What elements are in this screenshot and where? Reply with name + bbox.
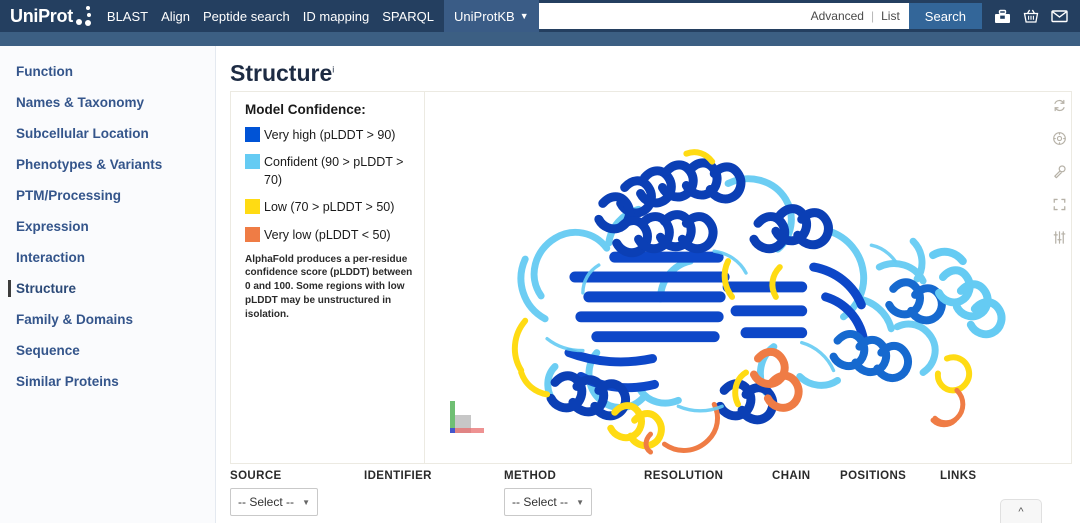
chevron-up-icon: ^ [1018,506,1023,518]
search-options-separator: | [871,9,874,23]
settings-icon[interactable] [1052,230,1067,250]
top-header: UniProt BLAST Align Peptide search ID ma… [0,0,1080,32]
logo-dots-icon [75,5,95,27]
sidebar-item-names-taxonomy[interactable]: Names & Taxonomy [0,87,215,118]
sidebar-item-label: Function [16,64,73,79]
sidebar-item-structure[interactable]: Structure [0,273,215,304]
main-content: Structurei Model Confidence: Very high (… [216,46,1080,523]
sidebar-item-label: Subcellular Location [16,126,149,141]
legend-swatch-very-high [245,127,260,142]
sidebar-item-label: Expression [16,219,89,234]
column-header-positions: POSITIONS [840,470,940,482]
sidebar-item-label: Similar Proteins [16,374,119,389]
search-input[interactable] [539,3,802,29]
sidebar-item-label: Phenotypes & Variants [16,157,162,172]
main-nav: BLAST Align Peptide search ID mapping SP… [107,0,434,32]
basket-icon[interactable] [1023,9,1039,24]
sidebar-item-label: Names & Taxonomy [16,95,144,110]
orientation-axes-widget [439,393,495,445]
legend-label-low: Low (70 > pLDDT > 50) [264,198,394,216]
legend-entry-very-low: Very low (pLDDT < 50) [245,226,414,244]
toolbox-icon[interactable] [994,9,1011,24]
sidebar-item-subcellular-location[interactable]: Subcellular Location [0,118,215,149]
page-title-text: Structure [230,60,332,86]
nav-item-align[interactable]: Align [161,9,190,24]
model-confidence-legend: Model Confidence: Very high (pLDDT > 90)… [231,92,425,463]
header-icon-group [982,0,1080,32]
screenshot-icon[interactable] [1052,164,1067,184]
sidebar-item-function[interactable]: Function [0,56,215,87]
chevron-down-icon: ▼ [520,11,529,21]
namespace-dropdown[interactable]: UniProtKB ▼ [444,0,539,32]
chevron-down-icon: ▼ [302,498,310,507]
method-filter-value: -- Select -- [512,495,568,509]
nav-item-sparql[interactable]: SPARQL [382,9,434,24]
sidebar-item-label: Family & Domains [16,312,133,327]
source-filter-cell: -- Select -- ▼ [230,488,364,516]
page-title: Structurei [216,46,1080,97]
structure-table: SOURCE IDENTIFIER METHOD RESOLUTION CHAI… [230,470,1072,516]
search-options: Advanced | List [802,3,909,29]
legend-entry-low: Low (70 > pLDDT > 50) [245,198,414,216]
nav-item-id-mapping[interactable]: ID mapping [303,9,369,24]
section-sidebar: Function Names & Taxonomy Subcellular Lo… [0,46,216,523]
namespace-label: UniProtKB [454,9,515,24]
logo-text: UniProt [10,6,73,27]
column-header-method: METHOD [504,470,644,482]
reset-view-icon[interactable] [1052,98,1067,118]
scroll-to-top-button[interactable]: ^ [1000,499,1042,523]
legend-swatch-confident [245,154,260,169]
chevron-down-icon: ▼ [576,498,584,507]
search-bar: Advanced | List [539,3,909,29]
sidebar-item-label: Structure [16,281,76,296]
sidebar-item-ptm-processing[interactable]: PTM/Processing [0,180,215,211]
sidebar-item-label: PTM/Processing [16,188,121,203]
table-filter-row: -- Select -- ▼ -- Select -- ▼ [230,488,1072,516]
sidebar-item-family-domains[interactable]: Family & Domains [0,304,215,335]
list-search-link[interactable]: List [881,9,900,23]
legend-label-confident: Confident (90 > pLDDT > 70) [264,153,414,189]
method-filter-cell: -- Select -- ▼ [504,488,644,516]
source-filter-select[interactable]: -- Select -- ▼ [230,488,318,516]
envelope-icon[interactable] [1051,9,1068,23]
advanced-search-link[interactable]: Advanced [811,9,864,23]
sidebar-item-similar-proteins[interactable]: Similar Proteins [0,366,215,397]
header-accent-band [0,32,1080,46]
sidebar-item-label: Interaction [16,250,85,265]
method-filter-select[interactable]: -- Select -- ▼ [504,488,592,516]
table-header-row: SOURCE IDENTIFIER METHOD RESOLUTION CHAI… [230,470,1072,488]
sidebar-item-phenotypes-variants[interactable]: Phenotypes & Variants [0,149,215,180]
legend-label-very-low: Very low (pLDDT < 50) [264,226,391,244]
page-title-info-marker[interactable]: i [332,64,334,74]
sidebar-item-interaction[interactable]: Interaction [0,242,215,273]
legend-label-very-high: Very high (pLDDT > 90) [264,126,395,144]
sidebar-item-label: Sequence [16,343,80,358]
legend-swatch-very-low [245,227,260,242]
focus-target-icon[interactable] [1052,131,1067,151]
column-header-links: LINKS [940,470,1020,482]
fullscreen-icon[interactable] [1052,197,1067,217]
nav-item-blast[interactable]: BLAST [107,9,148,24]
column-header-source: SOURCE [230,470,364,482]
column-header-resolution: RESOLUTION [644,470,772,482]
legend-description: AlphaFold produces a per-residue confide… [245,253,414,322]
uniprot-logo[interactable]: UniProt [0,0,99,32]
sidebar-item-sequence[interactable]: Sequence [0,335,215,366]
source-filter-value: -- Select -- [238,495,294,509]
column-header-chain: CHAIN [772,470,840,482]
legend-swatch-low [245,199,260,214]
protein-structure-render [425,92,1071,463]
sidebar-item-expression[interactable]: Expression [0,211,215,242]
legend-entry-very-high: Very high (pLDDT > 90) [245,126,414,144]
structure-viewer-panel: Model Confidence: Very high (pLDDT > 90)… [230,91,1072,464]
viewer-toolbar [1052,98,1067,250]
legend-entry-confident: Confident (90 > pLDDT > 70) [245,153,414,189]
molstar-viewer[interactable] [425,92,1071,463]
search-button[interactable]: Search [909,3,982,29]
nav-item-peptide-search[interactable]: Peptide search [203,9,290,24]
column-header-identifier: IDENTIFIER [364,470,504,482]
legend-title: Model Confidence: [245,102,414,117]
